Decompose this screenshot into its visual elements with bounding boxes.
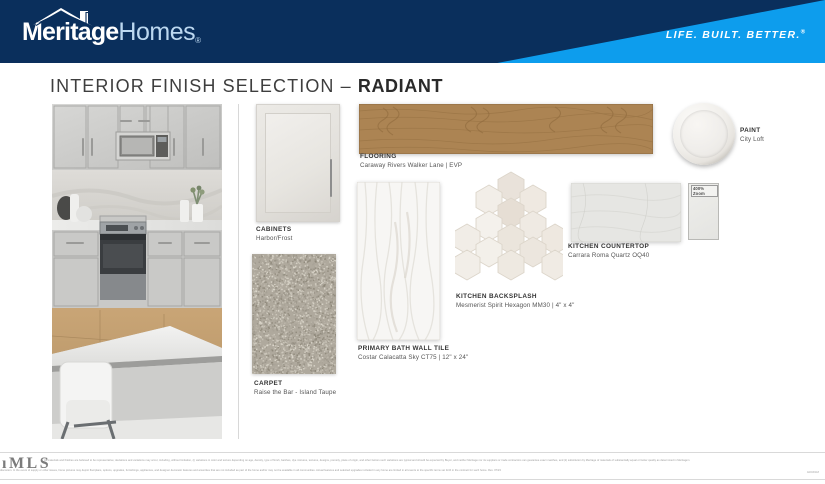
paint-label-group: PAINT City Loft	[740, 126, 764, 145]
carpet-label: CARPET	[254, 379, 336, 388]
bath-wall-tile-label-group: PRIMARY BATH WALL TILE Costar Calacatta …	[358, 344, 468, 363]
disclaimer-line-2: discretion. In the event of supply or ot…	[0, 469, 812, 474]
quartz-slab-texture	[571, 183, 681, 242]
site-header: Meritage Homes ® LIFE. BUILT. BETTER.®	[0, 0, 825, 63]
cabinet-pull-handle	[330, 159, 332, 197]
roof-icon	[31, 6, 119, 26]
marble-tile-texture	[357, 182, 440, 340]
logo-trademark: ®	[195, 36, 201, 45]
flooring-label-group: FLOORING Caraway Rivers Walker Lane | EV…	[360, 152, 462, 171]
cabinets-label-group: CABINETS Harbor/Frost	[256, 225, 293, 244]
revision-code: AR230118	[807, 471, 819, 474]
carpet-value: Raise the Bar - Island Taupe	[254, 388, 336, 397]
footer-divider-bottom	[0, 479, 825, 480]
countertop-value: Carrara Roma Quartz OQ40	[568, 251, 649, 260]
paint-value: City Loft	[740, 135, 764, 144]
paint-label: PAINT	[740, 126, 764, 135]
kitchen-interior-photo	[52, 104, 222, 439]
cabinets-swatch[interactable]	[256, 104, 340, 222]
countertop-swatch[interactable]	[571, 183, 681, 242]
carpet-texture	[252, 254, 336, 374]
header-tagline: LIFE. BUILT. BETTER.®	[666, 29, 805, 41]
flooring-value: Caraway Rivers Walker Lane | EVP	[360, 161, 462, 170]
countertop-zoom-detail[interactable]: 400% Zoom	[688, 183, 719, 240]
cabinet-door-panel	[265, 113, 331, 213]
page-title-prefix: INTERIOR FINISH SELECTION –	[50, 76, 358, 96]
bath-wall-tile-label: PRIMARY BATH WALL TILE	[358, 344, 468, 353]
countertop-zoom-label: 400% Zoom	[691, 185, 718, 197]
wood-plank-texture	[359, 104, 653, 154]
logo-text-secondary: Homes	[118, 20, 195, 45]
tagline-text: LIFE. BUILT. BETTER.	[666, 29, 801, 41]
flooring-label: FLOORING	[360, 152, 462, 161]
countertop-label-group: KITCHEN COUNTERTOP Carrara Roma Quartz O…	[568, 242, 649, 261]
backsplash-value: Mesmerist Spirit Hexagon MM30 | 4" x 4"	[456, 301, 574, 310]
backsplash-label-group: KITCHEN BACKSPLASH Mesmerist Spirit Hexa…	[456, 292, 574, 311]
hexagon-tile-cluster	[455, 165, 563, 287]
disclaimer-line-1: All materials and finishes are believed …	[44, 459, 814, 464]
footer-divider-top	[0, 452, 825, 453]
vertical-divider	[238, 104, 239, 439]
tagline-trademark: ®	[801, 30, 805, 36]
paint-swatch[interactable]	[673, 103, 735, 165]
cabinets-value: Harbor/Frost	[256, 234, 293, 243]
cabinets-label: CABINETS	[256, 225, 293, 234]
meritage-homes-logo: Meritage Homes ®	[22, 20, 201, 45]
carpet-swatch[interactable]	[252, 254, 336, 374]
countertop-label: KITCHEN COUNTERTOP	[568, 242, 649, 251]
paint-color-fill	[680, 110, 728, 158]
page-title-plan: RADIANT	[358, 76, 443, 96]
backsplash-label: KITCHEN BACKSPLASH	[456, 292, 574, 301]
flooring-swatch[interactable]	[359, 104, 653, 154]
backsplash-swatch[interactable]	[455, 165, 563, 287]
bath-wall-tile-swatch[interactable]	[357, 182, 440, 340]
kitchen-photo-illustration	[52, 104, 222, 439]
bath-wall-tile-value: Costar Calacatta Sky CT75 | 12" x 24"	[358, 353, 468, 362]
page-title: INTERIOR FINISH SELECTION – RADIANT	[50, 76, 443, 97]
carpet-label-group: CARPET Raise the Bar - Island Taupe	[254, 379, 336, 398]
